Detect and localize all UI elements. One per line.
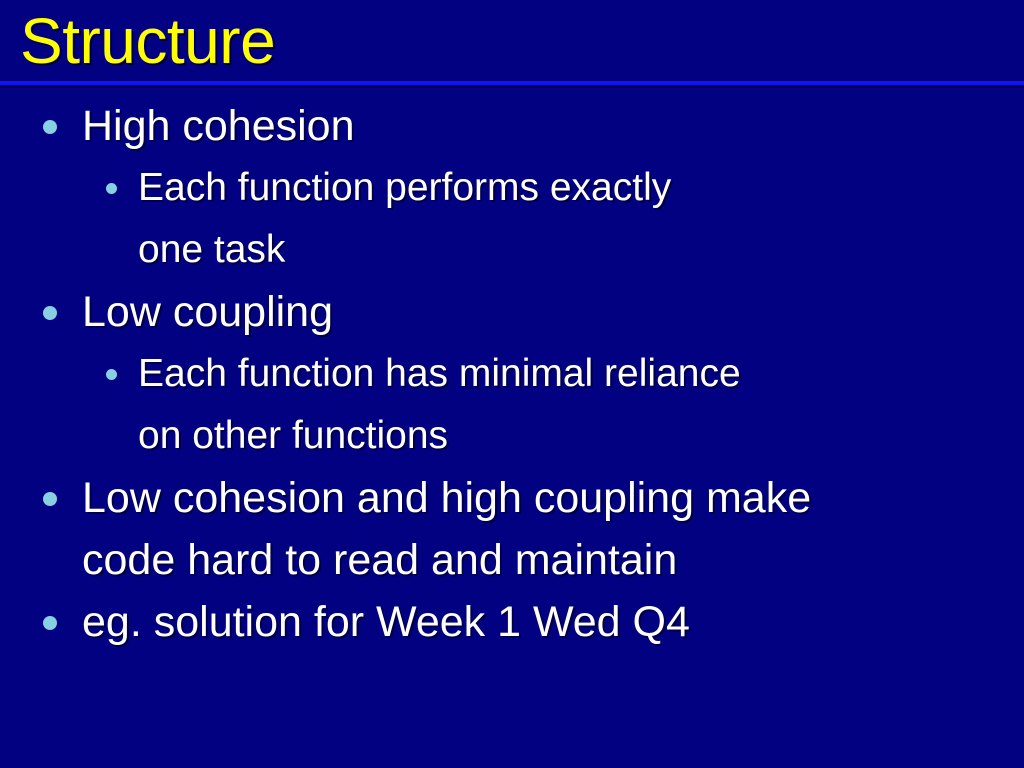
bullet-text: Low cohesion and high coupling make code… <box>82 467 1024 591</box>
bullet-dot-icon <box>106 183 117 194</box>
bullet-text: eg. solution for Week 1 Wed Q4 <box>82 591 1024 653</box>
bullet-item-level1: Low cohesion and high coupling make code… <box>0 467 1024 591</box>
bullet-dot-icon <box>106 369 117 380</box>
bullet-text: High cohesion <box>82 95 1024 157</box>
bullet-dot-icon <box>43 120 57 134</box>
bullet-text: Each function performs exactly one task <box>138 157 1024 281</box>
bullet-dot-icon <box>43 306 57 320</box>
slide-title: Structure <box>20 4 1000 80</box>
bullet-text: Low coupling <box>82 281 1024 343</box>
bullet-item-level2: Each function has minimal reliance on ot… <box>0 343 1024 467</box>
bullet-dot-icon <box>43 616 57 630</box>
presentation-slide: Structure High cohesion Each function pe… <box>0 0 1024 768</box>
title-divider-shadow <box>0 85 1024 88</box>
bullet-item-level1: Low coupling <box>0 281 1024 343</box>
bullet-text: Each function has minimal reliance on ot… <box>138 343 1024 467</box>
bullet-dot-icon <box>43 492 57 506</box>
bullet-item-level1: High cohesion <box>0 95 1024 157</box>
slide-body: High cohesion Each function performs exa… <box>0 95 1024 755</box>
bullet-item-level2: Each function performs exactly one task <box>0 157 1024 281</box>
bullet-item-level1: eg. solution for Week 1 Wed Q4 <box>0 591 1024 653</box>
